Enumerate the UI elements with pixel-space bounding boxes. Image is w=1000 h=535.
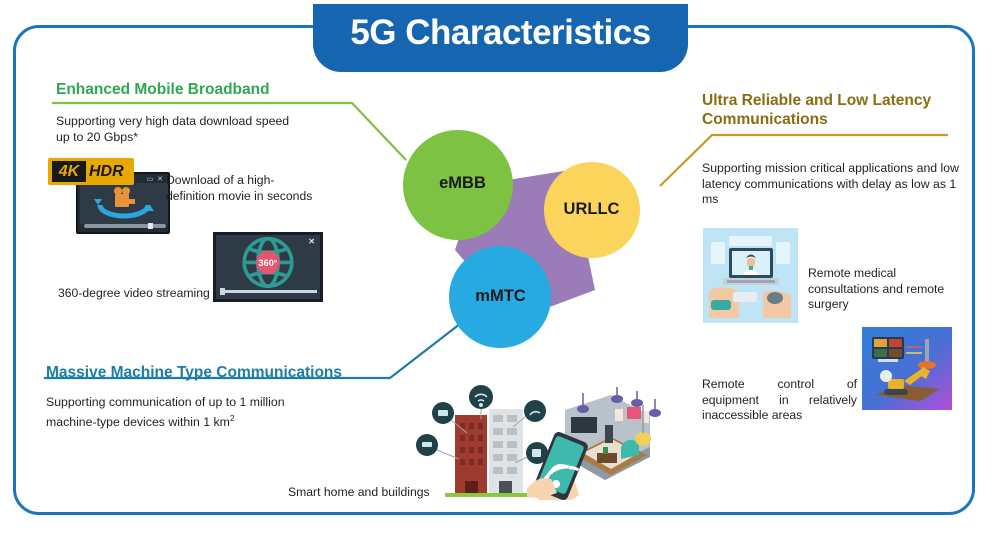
excavator-glyph: [862, 327, 952, 410]
svg-text:360°: 360°: [259, 258, 278, 268]
urllc-caption-medical: Remote medical consultations and remote …: [808, 266, 968, 313]
venn-diagram: [395, 125, 665, 355]
urllc-circle-label: URLLC: [524, 200, 659, 219]
urllc-caption-remote-control: Remote control of equipment in relativel…: [702, 377, 857, 424]
telemedicine-glyph: [703, 228, 798, 323]
mmtc-body-line2: machine-type devices within 1 km: [46, 415, 230, 429]
page-title: 5G Characteristics: [313, 8, 688, 58]
urllc-section-body: Supporting mission critical applications…: [702, 161, 967, 208]
hdr-label: HDR: [89, 161, 124, 182]
4k-hdr-badge: 4K HDR: [48, 158, 134, 185]
mmtc-section-body: Supporting communication of up to 1 mill…: [46, 395, 316, 430]
embb-caption-360: 360-degree video streaming: [58, 286, 238, 302]
mmtc-body-superscript: 2: [230, 413, 235, 423]
mmtc-body-line1: Supporting communication of up to 1 mill…: [46, 395, 285, 409]
remote-excavator-illustration: [862, 327, 952, 410]
smart-home-glyph: [415, 385, 670, 500]
smart-home-buildings-illustration: [415, 385, 670, 500]
player-screen: [80, 183, 168, 224]
movie-rotate-glyph: [80, 183, 168, 224]
telemedicine-illustration: [703, 228, 798, 323]
mmtc-section-heading: Massive Machine Type Communications: [46, 363, 406, 382]
infographic-canvas: 5G Characteristics eMBB URLLC mMTC Enhan…: [0, 0, 1000, 535]
urllc-section-heading: Ultra Reliable and Low Latency Communica…: [702, 91, 952, 129]
embb-section-heading: Enhanced Mobile Broadband: [56, 80, 386, 99]
4k-hdr-video-player-icon: ▭ ✕ 4K HDR: [48, 158, 170, 234]
window-controls: ▭ ✕: [142, 176, 164, 183]
4k-label: 4K: [52, 161, 86, 182]
mmtc-circle-label: mMTC: [433, 287, 568, 306]
player-progress-bar: [84, 224, 166, 228]
mmtc-caption-smart-home: Smart home and buildings: [288, 485, 488, 501]
embb-caption-download: Download of a high-definition movie in s…: [166, 173, 316, 204]
embb-section-body: Supporting very high data download speed…: [56, 114, 306, 145]
embb-circle-label: eMBB: [395, 174, 530, 193]
